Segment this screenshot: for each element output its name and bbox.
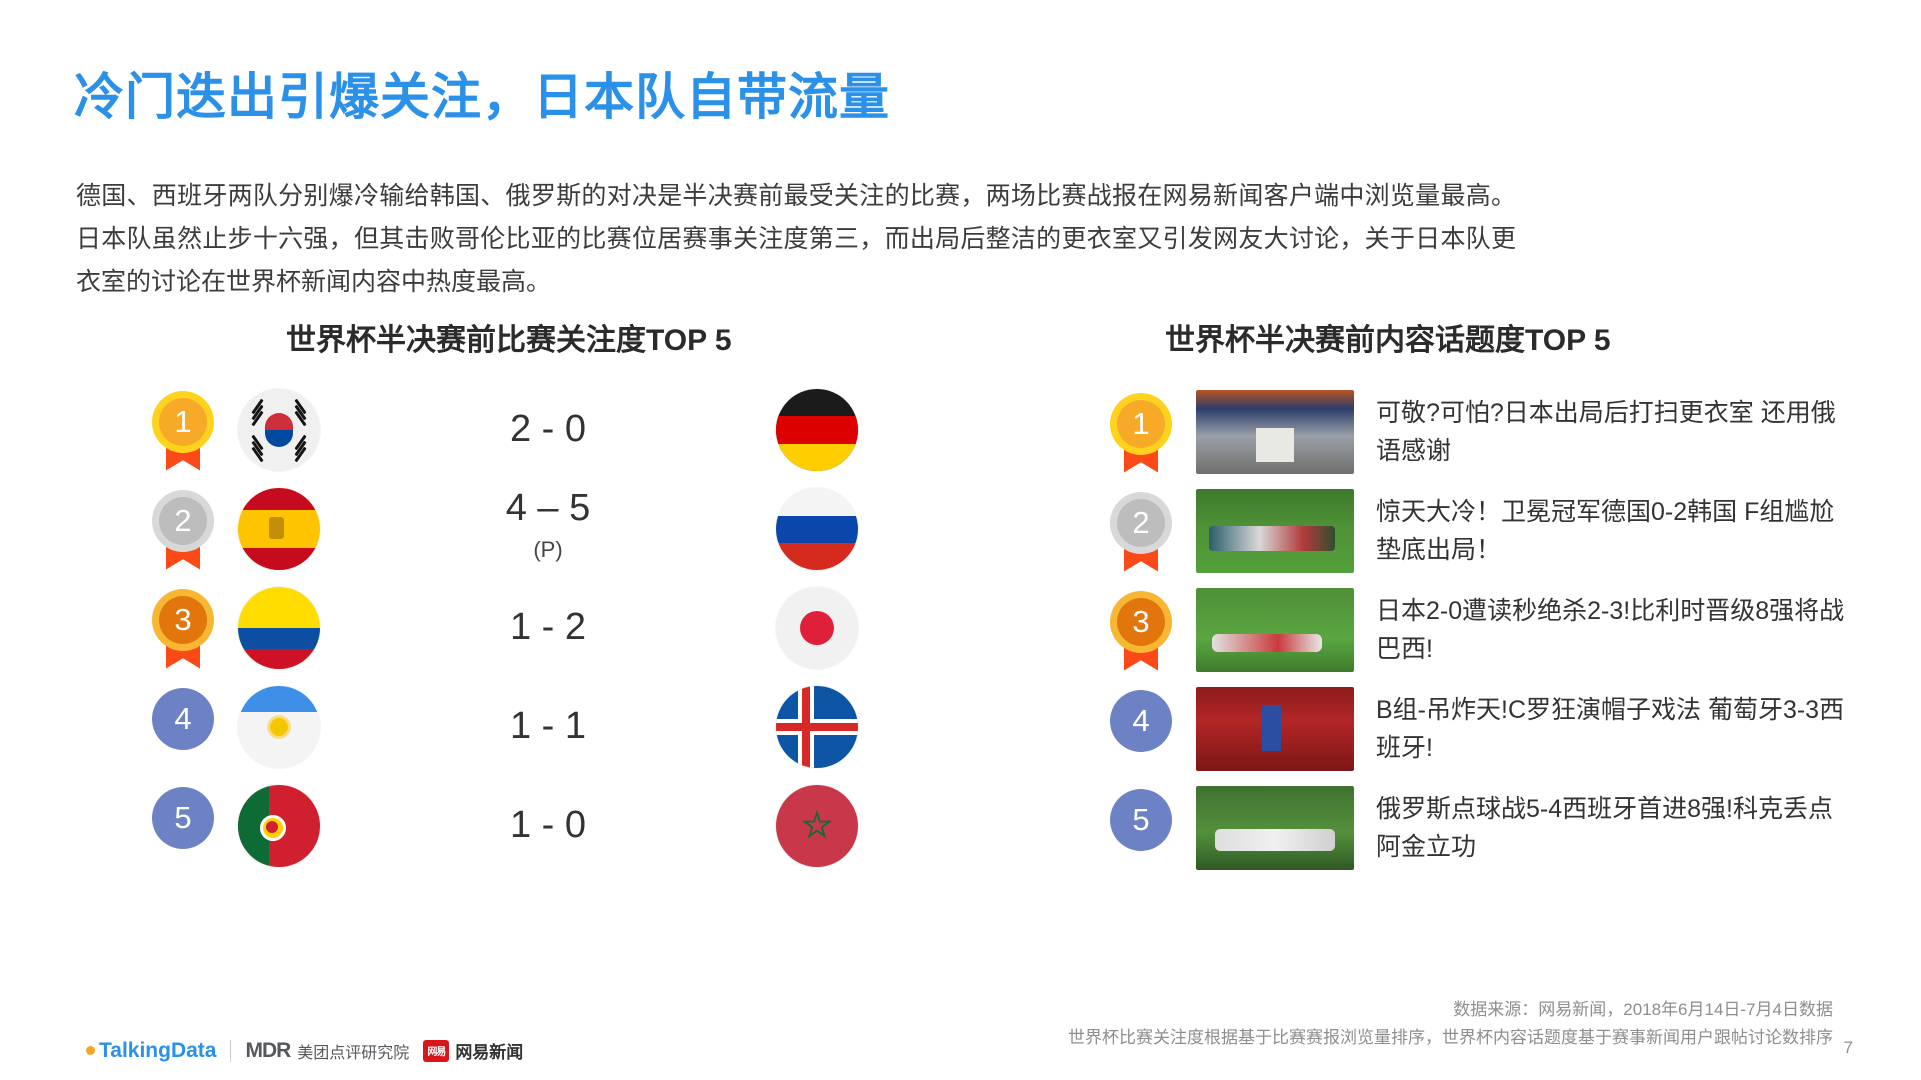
- table-row: 1 2 - 0: [152, 380, 882, 479]
- rank-number: 2: [1132, 505, 1149, 541]
- portugal-flag: [238, 785, 320, 867]
- slide-root: 冷门迭出引爆关注，日本队自带流量 德国、西班牙两队分别爆冷输给韩国、俄罗斯的对决…: [0, 0, 1921, 1080]
- rank-number: 4: [1132, 703, 1149, 739]
- match-score: 4 – 5 (P): [344, 488, 752, 570]
- away-flag-cell: [752, 587, 882, 669]
- topic-rank-badge-4: 4: [1110, 690, 1172, 768]
- source-line-1: 数据来源：网易新闻，2018年6月14日-7月4日数据: [1068, 996, 1833, 1024]
- talkingdata-logo: TalkingData: [86, 1039, 216, 1063]
- away-flag-cell: [752, 686, 882, 768]
- rank-number: 1: [174, 404, 191, 440]
- list-item: 3 日本2-0遭读秒绝杀2-3!比利时晋级8强将战巴西!: [1110, 580, 1850, 679]
- logo-divider: [230, 1040, 231, 1062]
- talkingdata-logo-text: TalkingData: [99, 1039, 216, 1063]
- celebration-photo: [1196, 786, 1354, 870]
- argentina-flag: [238, 686, 320, 768]
- page-title: 冷门迭出引爆关注，日本队自带流量: [74, 57, 890, 129]
- colombia-flag: [238, 587, 320, 669]
- south-korea-flag: [238, 389, 320, 471]
- list-item: 1 可敬?可怕?日本出局后打扫更衣室 还用俄语感谢: [1110, 382, 1850, 481]
- match-ranking-list: 1 2 - 0 2: [152, 380, 882, 875]
- rank-number: 2: [174, 503, 191, 539]
- away-flag-cell: [752, 389, 882, 471]
- topic-headline: 日本2-0遭读秒绝杀2-3!比利时晋级8强将战巴西!: [1376, 592, 1850, 668]
- list-item: 4 B组-吊炸天!C罗狂演帽子戏法 葡萄牙3-3西班牙!: [1110, 679, 1850, 778]
- home-flag-cell: [214, 686, 344, 768]
- rank-number: 3: [174, 602, 191, 638]
- away-flag-cell: [752, 785, 882, 867]
- home-flag-cell: [214, 488, 344, 570]
- list-item: 5 俄罗斯点球战5-4西班牙首进8强!科克丢点阿金立功: [1110, 778, 1850, 877]
- goal-save-photo: [1196, 489, 1354, 573]
- rank-number: 1: [1132, 406, 1149, 442]
- russia-flag: [776, 488, 858, 570]
- germany-flag: [776, 389, 858, 471]
- topic-ranking-list: 1 可敬?可怕?日本出局后打扫更衣室 还用俄语感谢 2 惊天大冷！卫冕冠军德国0…: [1110, 382, 1850, 877]
- topic-headline: 可敬?可怕?日本出局后打扫更衣室 还用俄语感谢: [1376, 394, 1850, 470]
- red-crowd-photo: [1196, 687, 1354, 771]
- match-score: 1 - 2: [344, 607, 752, 649]
- rank-number: 5: [174, 800, 191, 836]
- source-note: 数据来源：网易新闻，2018年6月14日-7月4日数据 世界杯比赛关注度根据基于…: [1068, 996, 1833, 1052]
- topic-headline: 惊天大冷！卫冕冠军德国0-2韩国 F组尴尬垫底出局！: [1376, 493, 1850, 569]
- mdr-logo-text: 美团点评研究院: [297, 1039, 409, 1063]
- footer-logos: TalkingData MDR 美团点评研究院 网易 网易新闻: [86, 1038, 523, 1063]
- rank-number: 5: [1132, 802, 1149, 838]
- spain-flag: [238, 488, 320, 570]
- home-flag-cell: [214, 785, 344, 867]
- mdr-mark-text: MDR: [245, 1039, 290, 1063]
- rank-badge-4: 4: [152, 688, 214, 766]
- netease-news-logo: 网易 网易新闻: [423, 1038, 523, 1063]
- list-item: 2 惊天大冷！卫冕冠军德国0-2韩国 F组尴尬垫底出局！: [1110, 481, 1850, 580]
- rank-badge-3: 3: [152, 589, 214, 667]
- iceland-flag: [776, 686, 858, 768]
- rank-badge-2: 2: [152, 490, 214, 568]
- rank-number: 3: [1132, 604, 1149, 640]
- locker-room-photo: [1196, 390, 1354, 474]
- topic-rank-badge-3: 3: [1110, 591, 1172, 669]
- table-row: 5 1 - 0: [152, 776, 882, 875]
- home-flag-cell: [214, 389, 344, 471]
- left-section-heading: 世界杯半决赛前比赛关注度TOP 5: [286, 315, 732, 359]
- away-flag-cell: [752, 488, 882, 570]
- meituan-dianping-logo: MDR 美团点评研究院: [245, 1039, 409, 1063]
- intro-paragraph: 德国、西班牙两队分别爆冷输给韩国、俄罗斯的对决是半决赛前最受关注的比赛，两场比赛…: [76, 175, 1516, 304]
- table-row: 4 1 - 1: [152, 677, 882, 776]
- topic-rank-badge-5: 5: [1110, 789, 1172, 867]
- page-number: 7: [1844, 1038, 1853, 1058]
- home-flag-cell: [214, 587, 344, 669]
- player-on-grass-photo: [1196, 588, 1354, 672]
- talkingdata-dot-icon: [86, 1046, 95, 1055]
- rank-number: 4: [174, 701, 191, 737]
- right-section-heading: 世界杯半决赛前内容话题度TOP 5: [1165, 315, 1611, 359]
- topic-rank-badge-1: 1: [1110, 393, 1172, 471]
- rank-badge-1: 1: [152, 391, 214, 469]
- rank-badge-5: 5: [152, 787, 214, 865]
- source-line-2: 世界杯比赛关注度根据基于比赛赛报浏览量排序，世界杯内容话题度基于赛事新闻用户跟帖…: [1068, 1024, 1833, 1052]
- netease-logo-text: 网易新闻: [455, 1038, 523, 1063]
- match-score: 1 - 0: [344, 805, 752, 847]
- topic-headline: B组-吊炸天!C罗狂演帽子戏法 葡萄牙3-3西班牙!: [1376, 691, 1850, 767]
- japan-flag: [776, 587, 858, 669]
- topic-headline: 俄罗斯点球战5-4西班牙首进8强!科克丢点阿金立功: [1376, 790, 1850, 866]
- table-row: 3 1 - 2: [152, 578, 882, 677]
- topic-rank-badge-2: 2: [1110, 492, 1172, 570]
- match-score: 1 - 1: [344, 706, 752, 748]
- morocco-flag: [776, 785, 858, 867]
- table-row: 2 4 – 5 (P): [152, 479, 882, 578]
- match-score: 2 - 0: [344, 409, 752, 451]
- netease-mark-icon: 网易: [423, 1040, 449, 1062]
- score-note: (P): [344, 530, 752, 570]
